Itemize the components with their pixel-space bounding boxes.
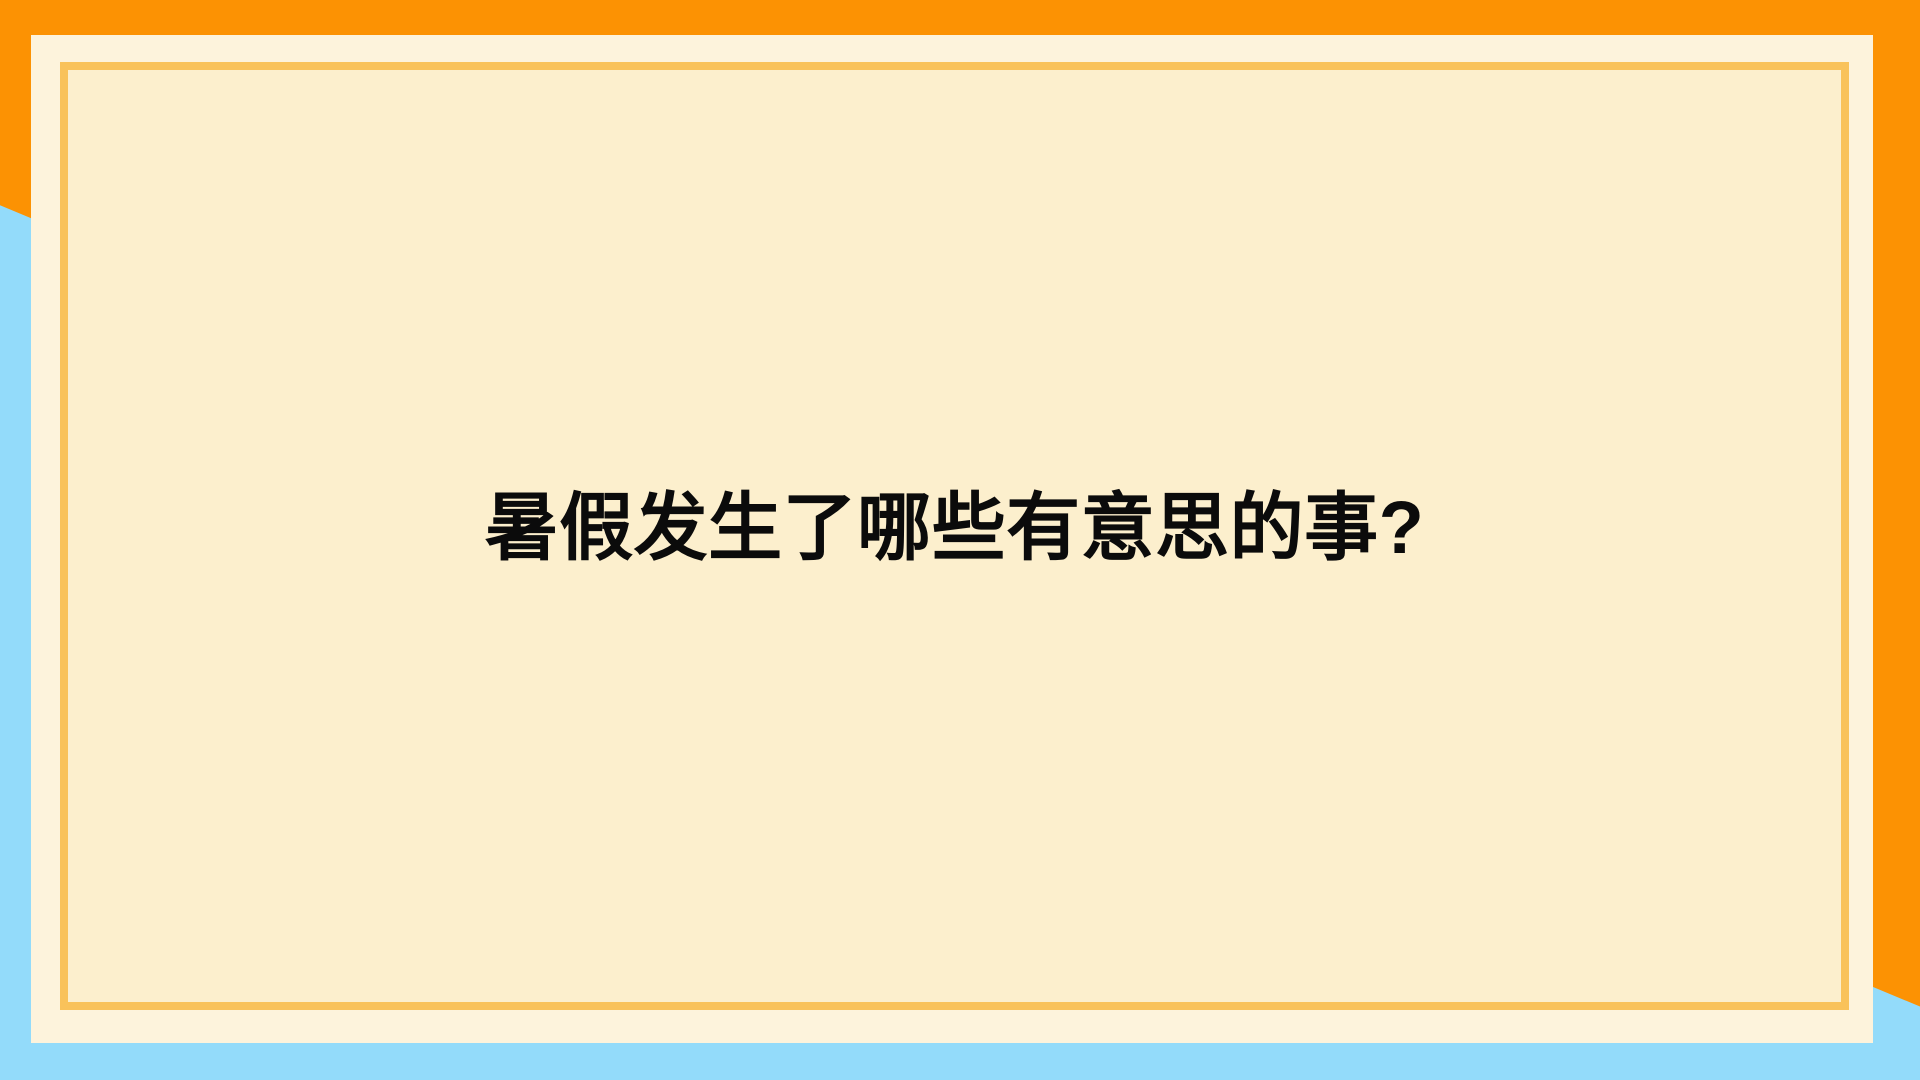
card-inner-border: 暑假发生了哪些有意思的事?	[60, 62, 1849, 1010]
card-content: 暑假发生了哪些有意思的事?	[68, 70, 1841, 1002]
slide-stage: 暑假发生了哪些有意思的事?	[0, 0, 1920, 1080]
slide-heading: 暑假发生了哪些有意思的事?	[485, 482, 1425, 575]
slide-card: 暑假发生了哪些有意思的事?	[31, 35, 1873, 1043]
